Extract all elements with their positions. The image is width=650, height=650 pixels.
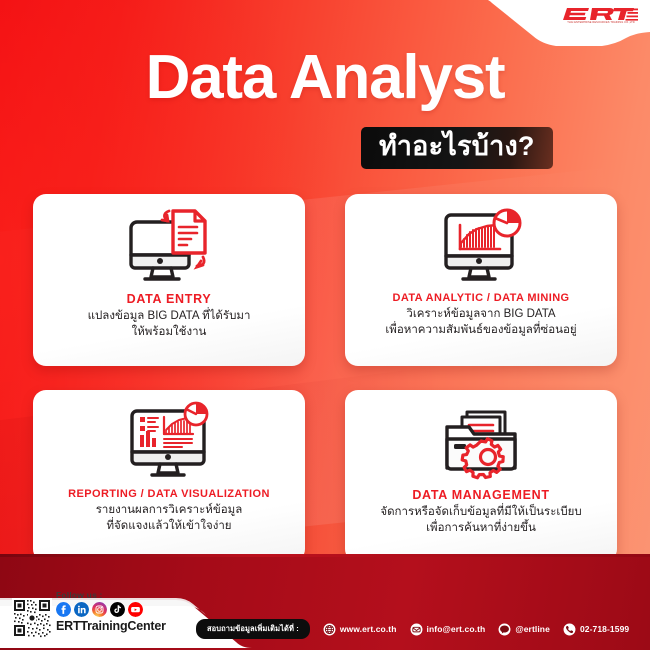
- contact-email[interactable]: info@ert.co.th: [410, 623, 486, 636]
- subtitle-badge: ทำอะไรบ้าง?: [361, 127, 553, 169]
- card-data-management[interactable]: DATA MANAGEMENT จัดการหรือจัดเก็บข้อมูลท…: [345, 390, 617, 562]
- follow-label: Follow us :: [56, 590, 226, 600]
- instagram-icon[interactable]: [92, 602, 107, 617]
- social-icon-row: [56, 602, 226, 617]
- envelope-icon: [410, 623, 423, 636]
- contact-website-value: www.ert.co.th: [340, 624, 397, 634]
- contact-badge: สอบถามข้อมูลเพิ่มเติมได้ที่ :: [196, 619, 310, 639]
- card-desc-line1: วิเคราะห์ข้อมูลจาก BIG DATA: [385, 307, 576, 323]
- ert-logo-mark: [562, 7, 638, 21]
- youtube-icon[interactable]: [128, 602, 143, 617]
- card-title: DATA ENTRY: [127, 292, 212, 306]
- card-desc-line1: รายงานผลการวิเคราะห์ข้อมูล: [96, 503, 243, 519]
- contact-phone-value: 02-718-1599: [580, 624, 629, 634]
- linkedin-icon[interactable]: [74, 602, 89, 617]
- card-title: DATA MANAGEMENT: [412, 488, 549, 502]
- card-description: แปลงข้อมูล BIG DATA ที่ได้รับมา ให้พร้อม…: [80, 309, 259, 341]
- ert-logo: THAI ENTERPRISE RESOURCES TRAINING CO.,L…: [562, 7, 640, 25]
- feature-card-grid: DATA ENTRY แปลงข้อมูล BIG DATA ที่ได้รับ…: [33, 194, 617, 562]
- phone-icon: [563, 623, 576, 636]
- contact-line-value: @ertline: [515, 624, 550, 634]
- card-desc-line1: แปลงข้อมูล BIG DATA ที่ได้รับมา: [88, 309, 251, 325]
- card-description: วิเคราะห์ข้อมูลจาก BIG DATA เพื่อหาความส…: [377, 307, 584, 339]
- monitor-bar-chart-pie-icon: [427, 204, 535, 286]
- card-desc-line2: ให้พร้อมใช้งาน: [88, 325, 251, 341]
- contact-website[interactable]: www.ert.co.th: [323, 623, 397, 636]
- poster-canvas: THAI ENTERPRISE RESOURCES TRAINING CO.,L…: [0, 0, 650, 650]
- page-title: Data Analyst: [0, 42, 650, 113]
- card-data-analytic[interactable]: DATA ANALYTIC / DATA MINING วิเคราะห์ข้อ…: [345, 194, 617, 366]
- line-icon: [498, 623, 511, 636]
- card-description: จัดการหรือจัดเก็บข้อมูลที่มีให้เป็นระเบี…: [372, 505, 589, 537]
- contact-line[interactable]: @ertline: [498, 623, 550, 636]
- corner-swoosh: THAI ENTERPRISE RESOURCES TRAINING CO.,L…: [430, 0, 650, 46]
- contact-row: สอบถามข้อมูลเพิ่มเติมได้ที่ : www.ert.co…: [196, 619, 629, 639]
- facebook-icon[interactable]: [56, 602, 71, 617]
- monitor-document-icon: [115, 204, 223, 286]
- card-desc-line2: เพื่อการค้นหาที่ง่ายขึ้น: [380, 521, 581, 537]
- monitor-dashboard-icon: [115, 400, 223, 482]
- qr-code: [12, 598, 52, 638]
- card-reporting[interactable]: REPORTING / DATA VISUALIZATION รายงานผลก…: [33, 390, 305, 562]
- contact-phone[interactable]: 02-718-1599: [563, 623, 629, 636]
- globe-icon: [323, 623, 336, 636]
- card-desc-line1: จัดการหรือจัดเก็บข้อมูลที่มีให้เป็นระเบี…: [380, 505, 581, 521]
- card-desc-line2: ที่จัดแจงแล้วให้เข้าใจง่าย: [96, 519, 243, 535]
- contact-email-value: info@ert.co.th: [427, 624, 486, 634]
- folder-gear-icon: [431, 400, 531, 482]
- tiktok-icon[interactable]: [110, 602, 125, 617]
- card-desc-line2: เพื่อหาความสัมพันธ์ของข้อมูลที่ซ่อนอยู่: [385, 323, 576, 339]
- card-title: REPORTING / DATA VISUALIZATION: [68, 488, 270, 500]
- card-title: DATA ANALYTIC / DATA MINING: [392, 292, 569, 304]
- card-data-entry[interactable]: DATA ENTRY แปลงข้อมูล BIG DATA ที่ได้รับ…: [33, 194, 305, 366]
- logo-subtitle: THAI ENTERPRISE RESOURCES TRAINING CO.,L…: [562, 22, 640, 25]
- card-description: รายงานผลการวิเคราะห์ข้อมูล ที่จัดแจงแล้ว…: [88, 503, 251, 535]
